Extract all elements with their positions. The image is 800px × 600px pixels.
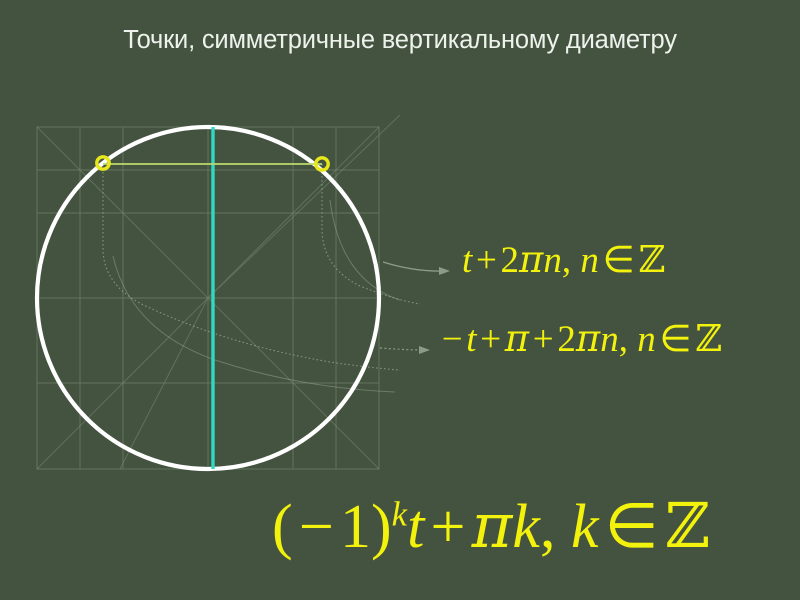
formula-two-coef: 2 [557, 319, 576, 360]
formula-main-plus: + [424, 493, 471, 561]
formula-one-integers: ℤ [638, 238, 665, 281]
formula-general-solution-two: −t+π+2πn, n∈ℤ [438, 320, 722, 358]
formula-two-plus-2: + [529, 319, 557, 360]
formula-two-pi-2: π [576, 317, 600, 360]
formula-one-coef: 2 [501, 240, 520, 281]
formula-main-minus: − [293, 493, 340, 561]
formula-main-one: 1 [340, 493, 371, 561]
formula-main-pi: π [472, 489, 513, 562]
formula-main-close-paren: ) [371, 493, 392, 561]
formula-two-integers: ℤ [695, 317, 722, 360]
formula-one-t: t [462, 240, 472, 281]
formula-one-comma: , [562, 240, 571, 281]
formula-one-n: n [543, 240, 562, 281]
leader-arrow-upper [383, 262, 450, 275]
leader-arrow-lower [380, 346, 430, 354]
slide-canvas: Точки, симметричные вертикальному диамет… [0, 0, 800, 600]
formula-two-n: n [600, 319, 619, 360]
formula-two-in: ∈ [656, 319, 696, 360]
formula-two-comma: , [619, 319, 628, 360]
formula-two-n2: n [637, 319, 656, 360]
formula-main-open-paren: ( [272, 493, 293, 561]
formula-combined-solution: (−1)kt+πk, k∈ℤ [272, 495, 710, 558]
formula-one-plus: + [472, 240, 500, 281]
formula-two-minus: − [438, 319, 466, 360]
formula-main-k2: k [571, 493, 599, 561]
construction-diagonals [37, 115, 400, 469]
formula-two-pi-1: π [505, 317, 529, 360]
formula-two-plus-1: + [477, 319, 505, 360]
formula-main-integers: ℤ [665, 489, 710, 562]
formula-two-t: t [466, 319, 476, 360]
formula-main-in: ∈ [598, 493, 664, 561]
formula-main-t: t [407, 493, 424, 561]
formula-main-comma: , [540, 493, 556, 561]
formula-one-in: ∈ [599, 240, 639, 281]
formula-one-pi: π [519, 238, 543, 281]
formula-main-exponent: k [392, 494, 407, 533]
formula-one-n2: n [580, 240, 599, 281]
formula-main-k: k [512, 493, 540, 561]
formula-general-solution-one: t+2πn, n∈ℤ [462, 241, 665, 279]
construction-curve-solid [113, 200, 400, 392]
